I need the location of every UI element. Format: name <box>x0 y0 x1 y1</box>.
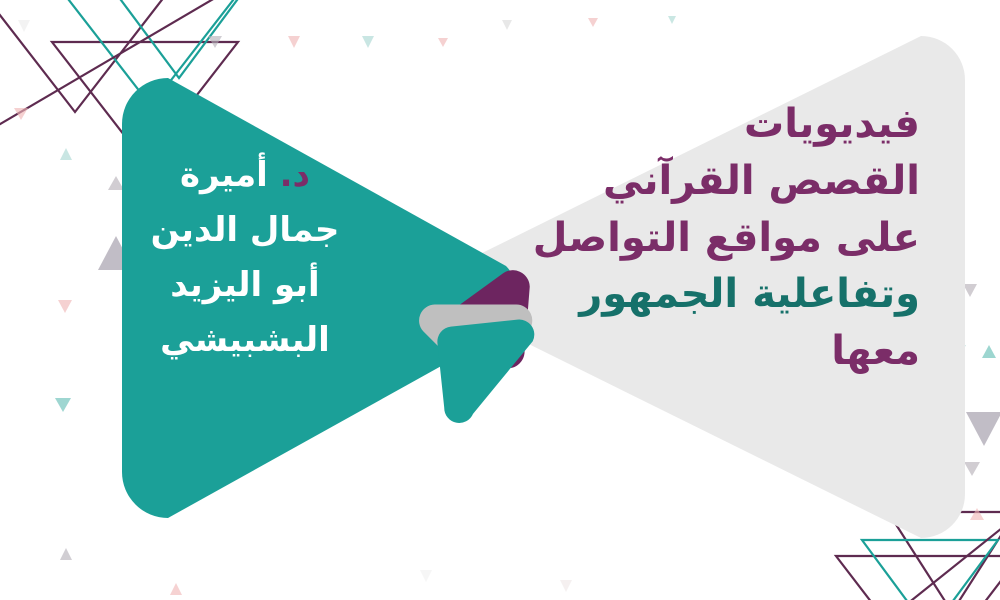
slide-canvas: د. أميرة جمال الدين أبو اليزيد البشبيشي … <box>0 0 1000 600</box>
triple-play-button-logo <box>0 0 1000 600</box>
play-triangle-teal-icon <box>436 318 543 424</box>
